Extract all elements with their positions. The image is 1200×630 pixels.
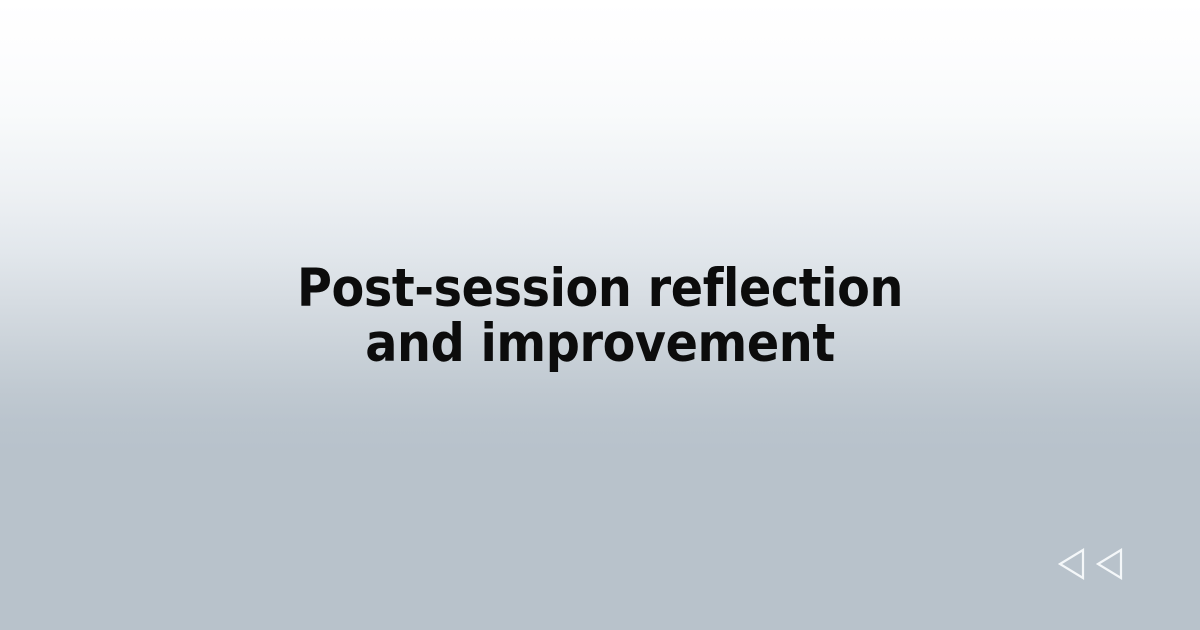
navigation-controls [1056,546,1126,582]
title-block: Post-session reflection and improvement [0,262,1200,371]
slide-canvas: Post-session reflection and improvement [0,0,1200,630]
page-title: Post-session reflection and improvement [255,262,945,371]
triangle-left-icon[interactable] [1056,546,1088,582]
triangle-left-icon[interactable] [1094,546,1126,582]
